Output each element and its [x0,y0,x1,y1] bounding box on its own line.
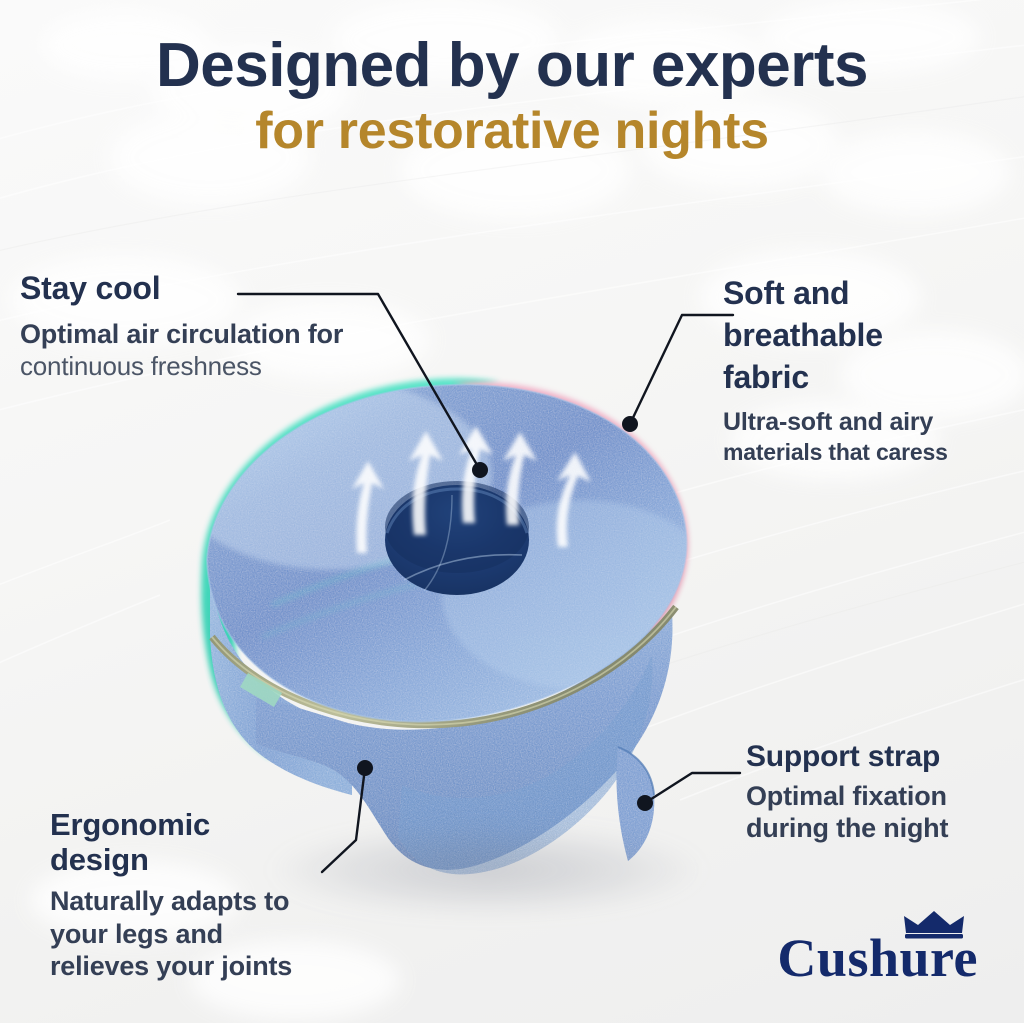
callout-body-ergonomic-line2: your legs and [50,918,380,950]
headline-block: Designed by our experts for restorative … [0,34,1024,158]
callout-support-strap: Support strap Optimal fixation during th… [746,740,1024,845]
callout-title-ergonomic-line2: design [50,843,380,878]
callout-soft-fabric: Soft and breathable fabric Ultra-soft an… [723,272,1023,467]
callout-title-stay-cool: Stay cool [20,272,440,306]
callout-body-support-strap-line1: Optimal fixation [746,780,1024,812]
callout-title-soft-fabric-line2: breathable [723,314,1023,356]
callout-body-ergonomic-line1: Naturally adapts to [50,885,380,917]
callout-body-stay-cool-line1: Optimal air circulation for [20,318,440,351]
callout-title-soft-fabric-line3: fabric [723,356,1023,398]
callout-body-support-strap-line2: during the night [746,812,1024,844]
product-infographic-poster: Designed by our experts for restorative … [0,0,1024,1023]
callout-body-soft-fabric-line2: materials that caress [723,438,1023,467]
crown-icon [902,909,966,939]
brand-name: Cushure [777,931,978,985]
callout-title-ergonomic-line1: Ergonomic [50,808,380,843]
callout-title-support-strap: Support strap [746,740,1024,773]
headline-secondary: for restorative nights [0,104,1024,159]
callout-stay-cool: Stay cool Optimal air circulation for co… [20,272,440,382]
callout-body-stay-cool-line2: continuous freshness [20,351,440,382]
brand-logo: Cushure [777,931,978,985]
callout-ergonomic: Ergonomic design Naturally adapts to you… [50,808,380,983]
callout-title-soft-fabric-line1: Soft and [723,272,1023,314]
callout-body-ergonomic-line3: relieves your joints [50,950,380,982]
headline-primary: Designed by our experts [0,34,1024,98]
callout-body-soft-fabric-line1: Ultra-soft and airy [723,407,1023,438]
